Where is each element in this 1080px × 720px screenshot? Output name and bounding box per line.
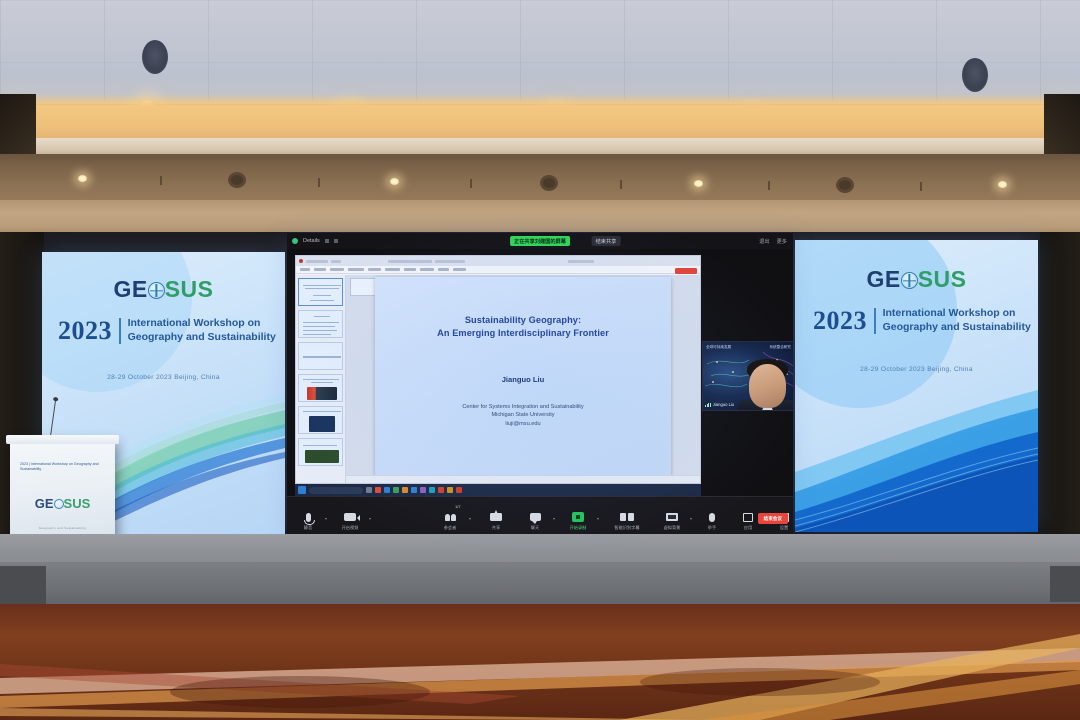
banner-title-line2: Geography and Sustainability bbox=[883, 321, 1031, 333]
banner-logo-ge: GE bbox=[113, 276, 147, 302]
banner-title-line1: International Workshop on bbox=[883, 307, 1016, 319]
podium-subtitle: Geography and Sustainability bbox=[10, 526, 115, 530]
banner-logo-sus: SUS bbox=[918, 266, 967, 292]
overlay-text-left: 全球可持续发展 bbox=[706, 345, 731, 350]
taskbar-app-icon[interactable] bbox=[411, 487, 417, 493]
wall-speaker-ring-icon bbox=[228, 172, 246, 188]
window-control-icon[interactable] bbox=[325, 239, 329, 243]
thumbnail-image bbox=[305, 450, 339, 463]
people-icon bbox=[433, 511, 467, 524]
meeting-topbar-right: 退出 更多 bbox=[759, 238, 787, 245]
slide-author: Jianguo Liu bbox=[375, 375, 671, 384]
stage-step-left bbox=[0, 566, 46, 606]
captions-button-label: 智能识别字幕 bbox=[605, 525, 649, 531]
powerpoint-record-button[interactable] bbox=[675, 268, 697, 274]
sharing-status-badge: 正在共享刘建国的屏幕 bbox=[510, 236, 570, 246]
stage-step-right bbox=[1050, 566, 1080, 602]
banner-title: International Workshop on Geography and … bbox=[128, 317, 276, 345]
share-button-label: 共享 bbox=[479, 525, 513, 531]
captions-icon bbox=[605, 511, 649, 524]
podium-header-text: 2023 | International Workshop on Geograp… bbox=[20, 462, 105, 472]
wall-slot bbox=[318, 178, 320, 187]
slide-title-line1: Sustainability Geography: bbox=[375, 315, 671, 325]
virtual-bg-icon bbox=[655, 511, 689, 524]
banner-headline: 2023 International Workshop on Geography… bbox=[813, 306, 1031, 336]
banner-title: International Workshop on Geography and … bbox=[883, 307, 1031, 335]
podium-logo-ge: GE bbox=[35, 496, 54, 511]
banner-divider bbox=[119, 318, 121, 344]
ribbon-tab[interactable] bbox=[348, 268, 364, 271]
windows-taskbar[interactable] bbox=[295, 484, 701, 496]
ceiling bbox=[0, 0, 1080, 104]
ribbon-tab[interactable] bbox=[385, 268, 400, 271]
presenter-name: Jianguo Liu bbox=[713, 402, 734, 407]
presenter-face bbox=[749, 364, 786, 408]
banner-title-line2: Geography and Sustainability bbox=[128, 331, 276, 343]
chevron-down-icon[interactable]: ▾ bbox=[469, 516, 471, 521]
raise-hand-button-label: 举手 bbox=[695, 525, 729, 531]
carpet-pattern bbox=[0, 604, 1080, 720]
camera-button-label: 开启视频 bbox=[333, 525, 367, 531]
video-overlay-text: 全球可持续发展 系统整合研究 bbox=[706, 345, 791, 350]
podium-logo-sus: SUS bbox=[64, 496, 91, 511]
end-meeting-button[interactable]: 结束会议 bbox=[758, 513, 788, 524]
chat-button-label: 聊天 bbox=[518, 525, 552, 531]
taskbar-app-icon[interactable] bbox=[456, 487, 462, 493]
taskbar-app-icon[interactable] bbox=[420, 487, 426, 493]
taskbar-app-icon[interactable] bbox=[429, 487, 435, 493]
banner-title-line1: International Workshop on bbox=[128, 317, 261, 329]
led-banner-right: GESUS 2023 International Workshop on Geo… bbox=[795, 240, 1038, 532]
meeting-app-label[interactable]: Details bbox=[303, 238, 320, 244]
powerpoint-statusbar bbox=[346, 475, 700, 483]
recording-dot-icon bbox=[292, 238, 298, 244]
wall-downlight bbox=[694, 180, 703, 187]
chevron-down-icon[interactable]: ▾ bbox=[597, 516, 599, 521]
slide-thumbnail[interactable] bbox=[298, 438, 343, 466]
ceiling-vent-icon bbox=[142, 40, 168, 74]
participants-button[interactable]: 参会者 bbox=[433, 511, 467, 532]
thumbnail-image bbox=[309, 416, 335, 432]
cove-edge-left bbox=[0, 94, 36, 158]
taskbar-app-icon[interactable] bbox=[375, 487, 381, 493]
banner-logo: GESUS bbox=[42, 276, 285, 303]
ribbon-tab[interactable] bbox=[420, 268, 434, 271]
chevron-down-icon[interactable]: ▾ bbox=[690, 516, 692, 521]
powerpoint-ribbon[interactable] bbox=[296, 266, 700, 274]
slide-thumbnail[interactable] bbox=[298, 406, 343, 434]
slide-editor-canvas[interactable]: Sustainability Geography: An Emerging In… bbox=[346, 275, 700, 483]
titlebar-text bbox=[306, 260, 328, 263]
raise-hand-icon bbox=[695, 511, 729, 524]
record-green-icon bbox=[561, 511, 595, 524]
conference-hall-photo: GESUS 2023 International Workshop on Geo… bbox=[0, 0, 1080, 720]
share-screen-icon bbox=[479, 511, 513, 524]
wall-downlight bbox=[998, 181, 1007, 188]
chat-button[interactable]: 聊天 bbox=[518, 511, 552, 532]
stage-wall-right bbox=[1040, 232, 1080, 542]
wall-slot bbox=[620, 180, 622, 189]
titlebar-text bbox=[568, 260, 594, 263]
presenter-video-tile[interactable]: 全球可持续发展 系统整合研究 Jianguo Liu bbox=[702, 341, 793, 411]
meeting-control-bar[interactable]: 静音 ▾ 开启视频 ▾ 参会者 1/7 ▾ 共享 聊天 ▾ bbox=[287, 496, 793, 535]
globe-icon bbox=[901, 272, 918, 289]
slide-thumbnail[interactable] bbox=[298, 310, 343, 338]
podium-top-surface bbox=[6, 435, 119, 444]
settings-button-label: 设置 bbox=[767, 525, 793, 531]
presenter-name-label: Jianguo Liu bbox=[705, 402, 734, 407]
banner-divider bbox=[874, 308, 876, 334]
cove-edge-right bbox=[1044, 94, 1080, 158]
upper-wall-band bbox=[0, 154, 1080, 200]
wall-downlight bbox=[390, 178, 399, 185]
camera-icon bbox=[333, 511, 367, 524]
banner-wave-graphic bbox=[795, 352, 1038, 532]
virtual-bg-button-label: 虚拟背景 bbox=[655, 525, 689, 531]
powerpoint-window[interactable]: Sustainability Geography: An Emerging In… bbox=[295, 255, 701, 484]
affiliation-line1: Center for Systems Integration and Susta… bbox=[462, 404, 583, 410]
titlebar-text bbox=[331, 260, 341, 263]
taskbar-app-icon[interactable] bbox=[366, 487, 372, 493]
powerpoint-app-icon bbox=[299, 259, 303, 263]
powerpoint-titlebar bbox=[296, 256, 700, 266]
slide-thumbnail-panel[interactable] bbox=[296, 275, 346, 483]
slide-thumbnail[interactable] bbox=[298, 342, 343, 370]
taskbar-app-icon[interactable] bbox=[393, 487, 399, 493]
chevron-down-icon[interactable]: ▾ bbox=[369, 516, 371, 521]
participants-button-label: 参会者 bbox=[433, 525, 467, 531]
start-button-icon[interactable] bbox=[298, 486, 306, 494]
share-screen-button[interactable]: 共享 bbox=[479, 511, 513, 532]
wall-downlight bbox=[78, 175, 87, 182]
ribbon-tab[interactable] bbox=[368, 268, 381, 271]
chevron-down-icon[interactable]: ▾ bbox=[553, 516, 555, 521]
stage-platform-face bbox=[0, 562, 1080, 608]
affiliation-line2: Michigan State University bbox=[491, 412, 554, 418]
banner-headline: 2023 International Workshop on Geography… bbox=[58, 316, 276, 346]
participants-count-badge: 1/7 bbox=[455, 504, 461, 509]
captions-button[interactable]: 智能识别字幕 bbox=[605, 511, 649, 532]
ceiling-vent-icon bbox=[962, 58, 988, 92]
podium-logo: GESUS bbox=[10, 496, 115, 511]
powerpoint-body: Sustainability Geography: An Emerging In… bbox=[296, 275, 700, 483]
banner-logo-sus: SUS bbox=[165, 276, 214, 302]
ribbon-tab[interactable] bbox=[453, 268, 466, 271]
banner-year: 2023 bbox=[58, 316, 112, 346]
virtual-background-button[interactable]: 虚拟背景 bbox=[655, 511, 689, 532]
topbar-more-label[interactable]: 更多 bbox=[777, 238, 787, 245]
overlay-text-right: 系统整合研究 bbox=[769, 345, 791, 350]
slide-thumbnail[interactable] bbox=[298, 374, 343, 402]
taskbar-app-icon[interactable] bbox=[402, 487, 408, 493]
record-button[interactable]: 开始录制 bbox=[561, 511, 595, 532]
slide-title-line2: An Emerging Interdisciplinary Frontier bbox=[375, 328, 671, 338]
wall-speaker-ring-icon bbox=[836, 177, 854, 193]
ribbon-tab[interactable] bbox=[300, 268, 310, 271]
globe-icon bbox=[148, 282, 165, 299]
taskbar-app-icon[interactable] bbox=[384, 487, 390, 493]
titlebar-text bbox=[435, 260, 465, 263]
carpet bbox=[0, 604, 1080, 720]
wall-slot bbox=[768, 181, 770, 190]
ribbon-tab[interactable] bbox=[314, 268, 326, 271]
camera-button[interactable]: 开启视频 bbox=[333, 511, 367, 532]
current-slide: Sustainability Geography: An Emerging In… bbox=[375, 277, 671, 476]
window-control-icon[interactable] bbox=[334, 239, 338, 243]
titlebar-text bbox=[388, 260, 432, 263]
meeting-topbar: Details 正在共享刘建国的屏幕 结束共享 退出 更多 bbox=[287, 233, 793, 249]
topbar-exit-label[interactable]: 退出 bbox=[759, 238, 769, 245]
taskbar-app-icon[interactable] bbox=[447, 487, 453, 493]
taskbar-search-input[interactable] bbox=[309, 487, 363, 494]
video-conference-screen[interactable]: Details 正在共享刘建国的屏幕 结束共享 退出 更多 bbox=[287, 233, 793, 535]
signal-bars-icon bbox=[705, 403, 711, 407]
thumbnail-image bbox=[307, 387, 337, 400]
mic-button-label: 静音 bbox=[291, 525, 325, 531]
banner-year: 2023 bbox=[813, 306, 867, 336]
stop-sharing-button[interactable]: 结束共享 bbox=[592, 236, 621, 246]
taskbar-app-icon[interactable] bbox=[438, 487, 444, 493]
ribbon-tab[interactable] bbox=[404, 268, 416, 271]
globe-icon bbox=[54, 499, 64, 509]
mic-button[interactable]: 静音 bbox=[291, 511, 325, 532]
chevron-down-icon[interactable]: ▾ bbox=[325, 516, 327, 521]
record-button-label: 开始录制 bbox=[561, 525, 595, 531]
apps-button-label: 应用 bbox=[731, 525, 765, 531]
slide-thumbnail[interactable] bbox=[298, 278, 343, 306]
raise-hand-button[interactable]: 举手 bbox=[695, 511, 729, 532]
ribbon-tab[interactable] bbox=[438, 268, 449, 271]
wall-slot bbox=[160, 176, 162, 185]
banner-logo: GESUS bbox=[795, 266, 1038, 293]
affiliation-line3: liuji@msu.edu bbox=[505, 421, 540, 427]
chat-icon bbox=[518, 511, 552, 524]
microphone-icon bbox=[291, 511, 325, 524]
wall-slot bbox=[920, 182, 922, 191]
wall-slot bbox=[470, 179, 472, 188]
wall-speaker-ring-icon bbox=[540, 175, 558, 191]
banner-logo-ge: GE bbox=[866, 266, 900, 292]
ribbon-tab[interactable] bbox=[330, 268, 344, 271]
slide-affiliation: Center for Systems Integration and Susta… bbox=[375, 403, 671, 428]
